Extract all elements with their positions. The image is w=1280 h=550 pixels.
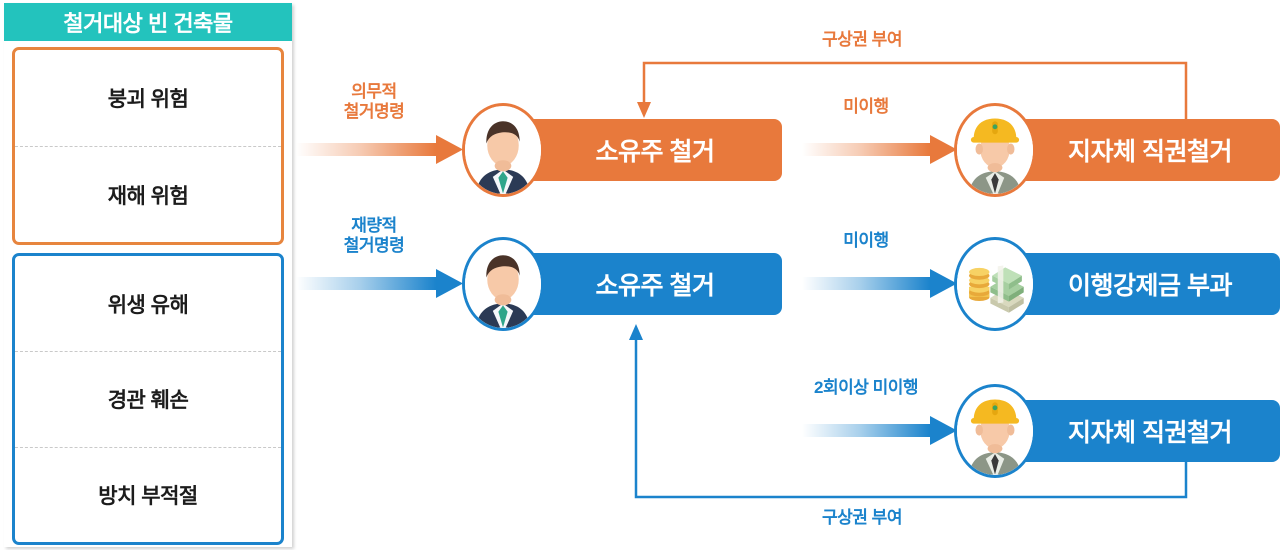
businessman-icon	[462, 103, 544, 197]
label-mandatory-noncompliance: 미이행	[802, 97, 930, 117]
construction-worker-icon	[954, 384, 1036, 478]
node-label: 지자체 직권철거	[994, 413, 1280, 449]
node-label: 소유주 철거	[502, 132, 782, 168]
node-government-demolition-mandatory[interactable]: 지자체 직권철거	[994, 119, 1280, 181]
label-repeat-noncompliance: 2회이상 미이행	[788, 378, 944, 398]
risk-item-collapse[interactable]: 붕괴 위험	[15, 50, 281, 146]
risk-category-panel: 철거대상 빈 건축물 붕괴 위험 재해 위험 위생 유해 경관 훼손 방치 부적…	[4, 3, 292, 547]
node-owner-demolition-discretionary[interactable]: 소유주 철거	[502, 253, 782, 315]
risk-item-neglect[interactable]: 방치 부적절	[15, 447, 281, 542]
risk-item-disaster[interactable]: 재해 위험	[15, 146, 281, 242]
arrow-mandatory-order	[296, 135, 463, 164]
node-owner-demolition-mandatory[interactable]: 소유주 철거	[502, 119, 782, 181]
node-enforcement-fine[interactable]: 이행강제금 부과	[994, 253, 1280, 315]
node-label: 이행강제금 부과	[994, 266, 1280, 302]
panel-title: 철거대상 빈 건축물	[4, 3, 292, 41]
process-flow-diagram: 의무적 철거명령 소유주 철거 미이행	[292, 0, 1280, 550]
risk-group-other: 위생 유해 경관 훼손 방치 부적절	[12, 253, 284, 545]
node-label: 지자체 직권철거	[994, 132, 1280, 168]
businessman-icon	[462, 237, 544, 331]
risk-group-danger: 붕괴 위험 재해 위험	[12, 47, 284, 245]
label-mandatory-reimbursement: 구상권 부여	[742, 30, 982, 50]
risk-item-sanitation[interactable]: 위생 유해	[15, 256, 281, 351]
arrow-discretionary-noncompliance	[802, 269, 957, 298]
label-discretionary-noncompliance: 미이행	[802, 231, 930, 251]
node-government-demolition-discretionary[interactable]: 지자체 직권철거	[994, 400, 1280, 462]
label-mandatory-order: 의무적 철거명령	[314, 82, 434, 121]
label-discretionary-reimbursement: 구상권 부여	[742, 508, 982, 528]
arrow-mandatory-noncompliance	[802, 135, 957, 164]
arrow-discretionary-order	[296, 269, 463, 298]
money-icon	[954, 237, 1036, 331]
construction-worker-icon	[954, 103, 1036, 197]
node-label: 소유주 철거	[502, 266, 782, 302]
arrow-repeat-noncompliance	[802, 416, 957, 445]
label-discretionary-order: 재량적 철거명령	[314, 216, 434, 255]
risk-item-landscape[interactable]: 경관 훼손	[15, 351, 281, 446]
